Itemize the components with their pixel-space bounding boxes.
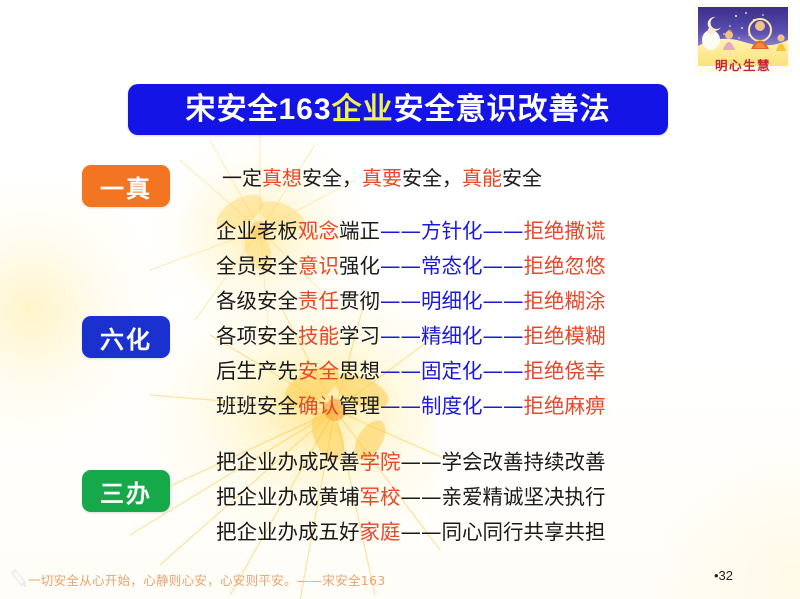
text-segment: 一定 <box>222 166 262 190</box>
footer-quote: 一切安全从心开始，心静则心安，心安则平安。——宋安全163 <box>28 570 386 589</box>
keyword-segment: 学院 <box>360 450 401 474</box>
text-segment: 学会改善持续改善 <box>442 450 606 474</box>
keyword-segment: 观念 <box>298 219 339 243</box>
badge-three-ban-label: 三办 <box>100 474 152 509</box>
keyword-segment: 确认 <box>298 394 339 418</box>
text-segment: 企业老板 <box>216 219 298 243</box>
dash-segment: —— <box>483 359 524 383</box>
dash-segment: —— <box>380 254 421 278</box>
page-number: •32 <box>714 568 733 583</box>
title-highlight: 企业 <box>332 93 394 126</box>
line-three-row: 把企业办成五好家庭——同心同行共享共担 <box>216 522 606 543</box>
text-segment: 亲爱精诚坚决执行 <box>442 485 606 509</box>
line-six-row: 后生产先安全思想——固定化——拒绝侥幸 <box>216 361 606 382</box>
result-segment: 拒绝忽悠 <box>524 254 606 278</box>
text-segment: 安全， <box>402 166 462 190</box>
keyword-segment: 意识 <box>298 254 339 278</box>
dash-segment: —— <box>401 485 442 509</box>
keyword-segment: 技能 <box>298 324 339 348</box>
line-six-row: 全员安全意识强化——常态化——拒绝忽悠 <box>216 256 606 277</box>
result-segment: 拒绝糊涂 <box>524 289 606 313</box>
line-six-row: 各项安全技能学习——精细化——拒绝模糊 <box>216 326 606 347</box>
text-segment: 强化 <box>339 254 380 278</box>
title-part2: 安全意识改善法 <box>394 93 611 126</box>
result-segment: 拒绝麻痹 <box>524 394 606 418</box>
dash-segment: —— <box>380 324 421 348</box>
text-segment: 各级安全 <box>216 289 298 313</box>
result-segment: 拒绝侥幸 <box>524 359 606 383</box>
text-segment: 安全， <box>302 166 362 190</box>
text-segment: 班班安全 <box>216 394 298 418</box>
text-segment: 把企业办成改善 <box>216 450 360 474</box>
text-segment: 全员安全 <box>216 254 298 278</box>
slide-canvas: 明心生慧 宋安全163企业安全意识改善法 一真 六化 三办 一定真想安全，真要安… <box>0 0 800 599</box>
mingxin-shenghui-logo: 明心生慧 <box>694 4 792 76</box>
text-segment: 贯彻 <box>339 289 380 313</box>
text-segment: 后生产先 <box>216 359 298 383</box>
text-segment: 把企业办成五好 <box>216 520 360 544</box>
dash-segment: —— <box>483 289 524 313</box>
line-three-row: 把企业办成改善学院——学会改善持续改善 <box>216 452 606 473</box>
keyword-segment: 真能 <box>462 166 502 190</box>
page-title: 宋安全163企业安全意识改善法 <box>185 95 610 125</box>
keyword-segment: 真想 <box>262 166 302 190</box>
logo-caption-text: 明心生慧 <box>715 58 771 73</box>
keyword-segment: 安全 <box>298 359 339 383</box>
term-segment: 明细化 <box>421 289 483 313</box>
dash-segment: —— <box>380 394 421 418</box>
text-segment: 学习 <box>339 324 380 348</box>
line-three-row: 把企业办成黄埔军校——亲爱精诚坚决执行 <box>216 487 606 508</box>
text-segment: 安全 <box>502 166 542 190</box>
term-segment: 固定化 <box>421 359 483 383</box>
dash-segment: —— <box>483 219 524 243</box>
badge-one-true-label: 一真 <box>100 169 152 204</box>
badge-three-ban[interactable]: 三办 <box>82 470 170 512</box>
dash-segment: —— <box>401 450 442 474</box>
text-segment: 思想 <box>339 359 380 383</box>
text-segment: 同心同行共享共担 <box>442 520 606 544</box>
dash-segment: —— <box>380 289 421 313</box>
badge-six-hua-label: 六化 <box>100 320 152 355</box>
dash-segment: —— <box>483 324 524 348</box>
result-segment: 拒绝模糊 <box>524 324 606 348</box>
line-six-row: 班班安全确认管理——制度化——拒绝麻痹 <box>216 396 606 417</box>
line-six-row: 各级安全责任贯彻——明细化——拒绝糊涂 <box>216 291 606 312</box>
keyword-segment: 军校 <box>360 485 401 509</box>
term-segment: 制度化 <box>421 394 483 418</box>
term-segment: 常态化 <box>421 254 483 278</box>
keyword-segment: 真要 <box>362 166 402 190</box>
dash-segment: —— <box>483 254 524 278</box>
result-segment: 拒绝撒谎 <box>524 219 606 243</box>
text-segment: 把企业办成黄埔 <box>216 485 360 509</box>
dash-segment: —— <box>380 359 421 383</box>
dash-segment: —— <box>380 219 421 243</box>
text-segment: 管理 <box>339 394 380 418</box>
title-part1: 宋安全163 <box>185 93 331 126</box>
keyword-segment: 家庭 <box>360 520 401 544</box>
badge-one-true[interactable]: 一真 <box>82 165 170 207</box>
dash-segment: —— <box>401 520 442 544</box>
term-segment: 精细化 <box>421 324 483 348</box>
line-one-true: 一定真想安全，真要安全，真能安全 <box>222 168 542 188</box>
slide-title-banner: 宋安全163企业安全意识改善法 <box>128 84 668 135</box>
term-segment: 方针化 <box>421 219 483 243</box>
line-six-row: 企业老板观念端正——方针化——拒绝撒谎 <box>216 221 606 242</box>
badge-six-hua[interactable]: 六化 <box>82 316 170 358</box>
keyword-segment: 责任 <box>298 289 339 313</box>
text-segment: 端正 <box>339 219 380 243</box>
text-segment: 各项安全 <box>216 324 298 348</box>
dash-segment: —— <box>483 394 524 418</box>
